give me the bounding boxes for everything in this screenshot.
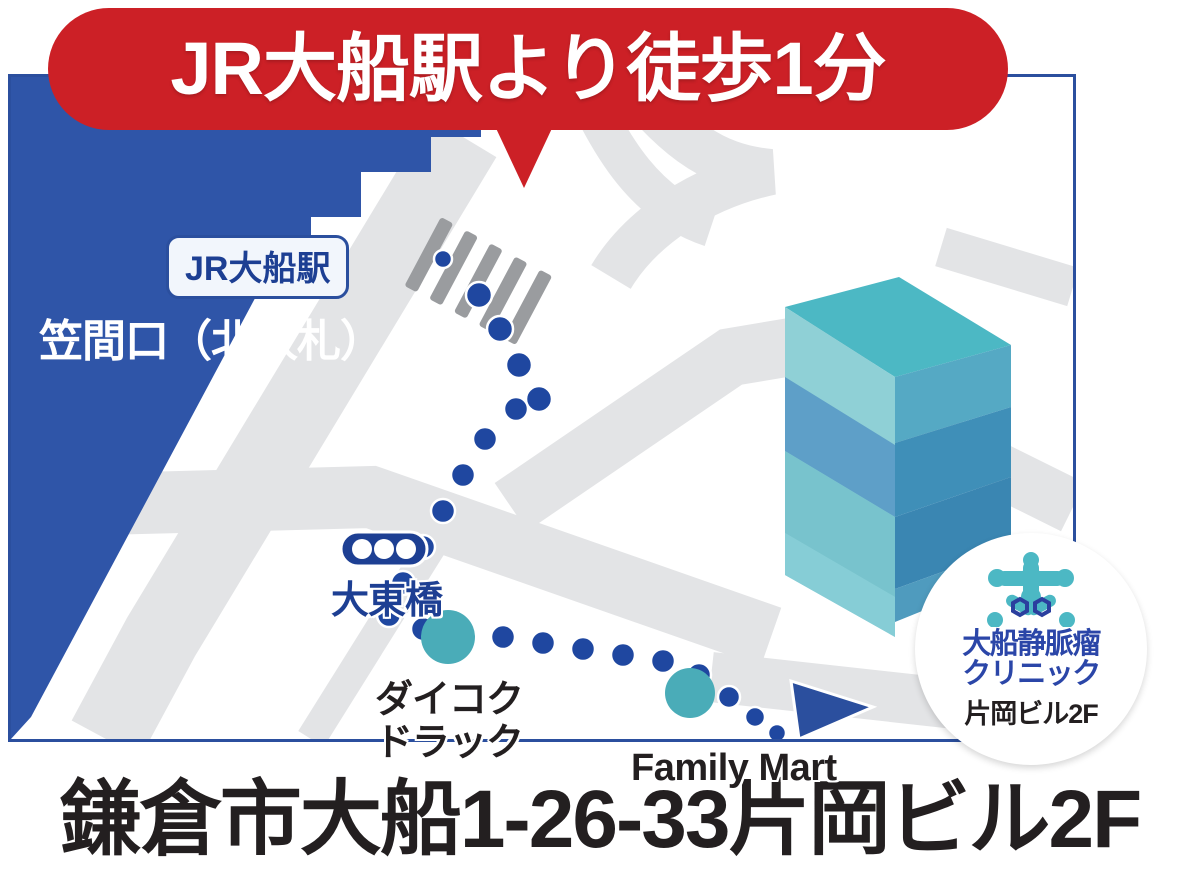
clinic-name-line1: 大船静脈瘤 [962,628,1100,660]
station-exit-label: 笠間口（北改札） [39,305,383,369]
poi-label-daikoku-drug: ダイコク ドラック [375,679,523,764]
clinic-name: 大船静脈瘤 クリニック [962,629,1100,689]
traffic-light-icon [341,532,427,566]
banner-pointer [494,124,554,188]
walking-time-banner: JR大船駅より徒歩1分 [48,8,1008,130]
clinic-floor-label: 片岡ビル2F [964,692,1098,731]
destination-arrow [791,681,873,739]
clinic-address: 鎌倉市大船1-26-33片岡ビル2F [0,752,1200,871]
poi-label-daikoku-line2: ドラック [375,722,523,765]
walking-path-dots [377,250,786,739]
walking-time-banner-text: JR大船駅より徒歩1分 [170,32,885,106]
poi-label-daikoku-line1: ダイコク [375,679,523,721]
poi-dot-familymart [665,668,715,718]
clinic-name-line2: クリニック [962,659,1100,689]
bridge-label: 大東橋 [331,569,442,624]
map-infographic: JR大船駅 笠間口（北改札） 大東橋 ダイコク ドラック Family Mart [0,0,1200,876]
station-name-label: JR大船駅 [166,235,349,299]
poi-label-family-mart: Family Mart [631,747,837,790]
vein-clinic-logo-icon [975,551,1087,627]
clinic-callout-bubble: 大船静脈瘤 クリニック 片岡ビル2F [915,533,1147,765]
